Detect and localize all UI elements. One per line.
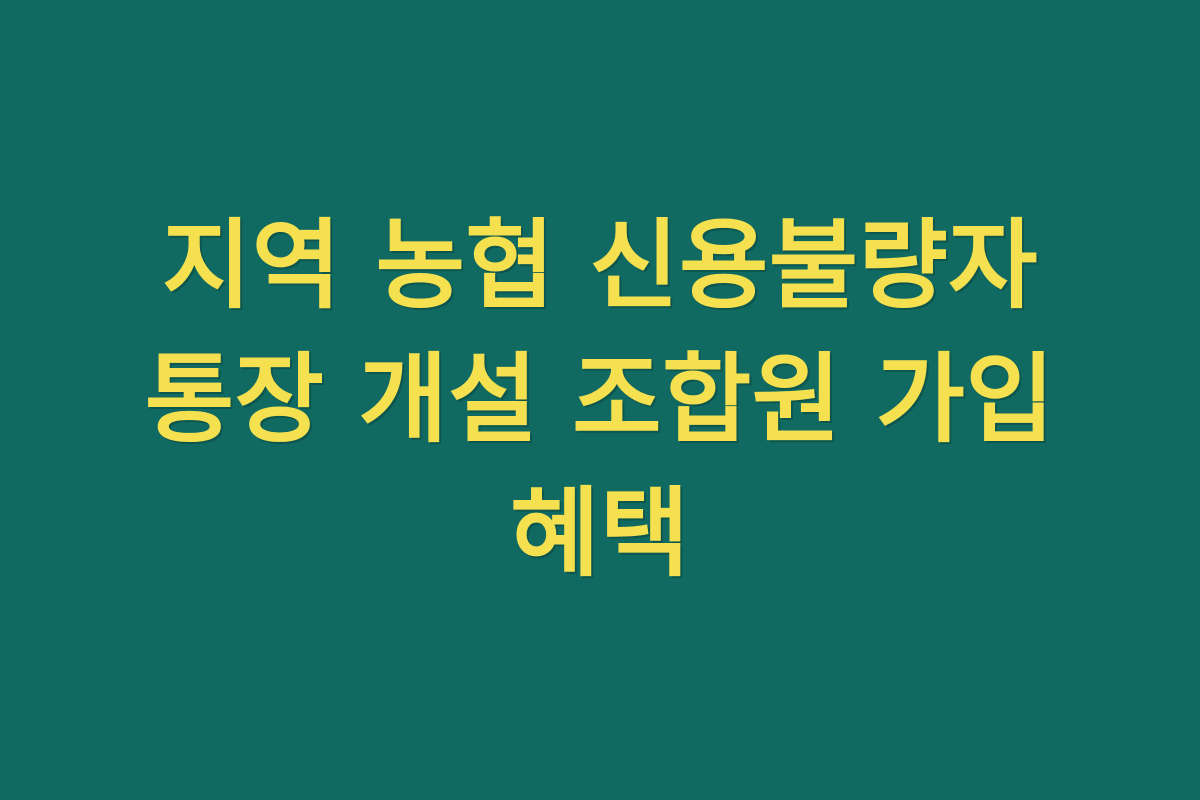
page-title: 지역 농협 신용불량자 통장 개설 조합원 가입 혜택 bbox=[80, 199, 1120, 601]
poster-canvas: 지역 농협 신용불량자 통장 개설 조합원 가입 혜택 bbox=[0, 0, 1200, 800]
